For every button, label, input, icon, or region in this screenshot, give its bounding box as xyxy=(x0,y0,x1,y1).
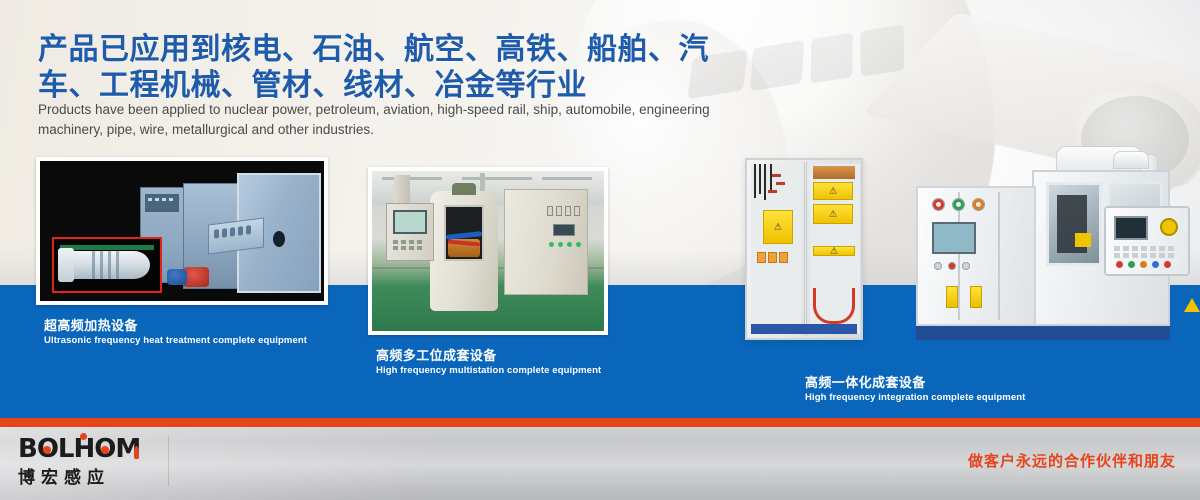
logo-ring-icon-1 xyxy=(43,446,51,454)
product-caption-2: 高频多工位成套设备 High frequency multistation co… xyxy=(376,347,608,377)
product-photo-1 xyxy=(40,161,324,301)
warning-panel-left xyxy=(763,210,793,244)
product-photo-frame-1 xyxy=(36,157,328,305)
page-title: 产品已应用到核电、石油、航空、高铁、船舶、汽车、工程机械、管材、线材、冶金等行业 xyxy=(38,32,738,104)
product-caption-1: 超高频加热设备 Ultrasonic frequency heat treatm… xyxy=(44,317,328,347)
logo-flame-icon xyxy=(134,446,139,459)
control-cabinet xyxy=(916,186,1036,326)
hmi-control-panel xyxy=(386,203,434,261)
logo-ring-icon-2 xyxy=(101,446,109,454)
product-title-cn-3: 高频一体化成套设备 xyxy=(805,374,1065,391)
product-title-cn-2: 高频多工位成套设备 xyxy=(376,347,608,364)
product-photo-2 xyxy=(372,171,604,331)
product-card-2[interactable]: 高频多工位成套设备 High frequency multistation co… xyxy=(368,167,608,377)
inspection-window xyxy=(1046,182,1102,266)
company-logo[interactable]: BOLHOM 博宏感应 xyxy=(18,436,158,488)
cooling-hose xyxy=(813,288,855,324)
copper-busbar xyxy=(813,166,855,179)
product-title-en-1: Ultrasonic frequency heat treatment comp… xyxy=(44,334,328,347)
logo-dot-icon xyxy=(80,433,87,440)
workpiece-detail xyxy=(62,251,150,279)
cnc-pendant-panel xyxy=(1104,206,1190,276)
power-supply-cabinet xyxy=(504,189,588,295)
product-photo-4 xyxy=(908,148,1198,348)
product-card-3[interactable]: 高频一体化成套设备 High frequency integration com… xyxy=(745,158,865,404)
machine-plinth xyxy=(916,326,1170,340)
footer-divider xyxy=(168,436,169,486)
vacuum-chamber xyxy=(430,191,498,311)
warning-panel-top xyxy=(813,182,853,200)
logo-cn-text: 博宏感应 xyxy=(18,468,158,488)
push-buttons xyxy=(934,262,976,271)
wiring-harness xyxy=(750,164,794,204)
indicator-lamps xyxy=(932,198,988,214)
product-caption-3: 高频一体化成套设备 High frequency integration com… xyxy=(805,374,1065,404)
promo-banner: 产品已应用到核电、石油、航空、高铁、船舶、汽车、工程机械、管材、线材、冶金等行业… xyxy=(0,0,1200,500)
product-title-en-2: High frequency multistation complete equ… xyxy=(376,364,608,377)
detail-inset-box xyxy=(52,237,162,293)
cable-spools xyxy=(183,267,209,287)
emergency-dial xyxy=(1160,218,1178,236)
product-card-4[interactable] xyxy=(908,148,1198,358)
touch-screen xyxy=(932,222,976,254)
product-title-cn-1: 超高频加热设备 xyxy=(44,317,328,334)
page-subtitle: Products have been applied to nuclear po… xyxy=(38,100,728,140)
product-photo-frame-2 xyxy=(368,167,608,335)
warning-triangle-icon xyxy=(1184,298,1200,312)
product-title-en-3: High frequency integration complete equi… xyxy=(805,391,1065,404)
orange-divider-rule xyxy=(0,418,1200,427)
warning-panel-top2 xyxy=(813,204,853,224)
product-photo-3 xyxy=(745,158,863,340)
footer-slogan: 做客户永远的合作伙伴和朋友 xyxy=(968,450,1176,471)
product-card-1[interactable]: 超高频加热设备 Ultrasonic frequency heat treatm… xyxy=(36,157,328,347)
